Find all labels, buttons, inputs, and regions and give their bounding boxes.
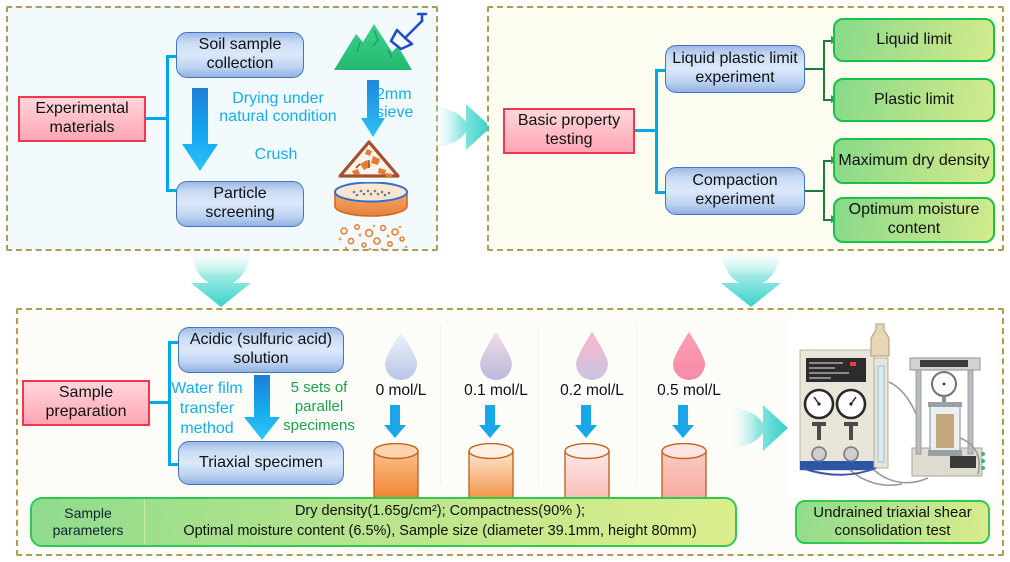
label-water-film-transfer-method: Water film transfer method (168, 379, 246, 439)
node-liquid-limit[interactable]: Liquid limit (833, 18, 995, 62)
node-compaction-experiment[interactable]: Compaction experiment (665, 167, 805, 215)
node-label: Acidic (sulfuric acid) solution (179, 331, 343, 369)
concentration-column: 0.1 mol/L (450, 330, 542, 400)
connector-line (146, 117, 168, 120)
connector-line (166, 56, 169, 190)
soil-pile-icon (336, 138, 406, 180)
connector-line (823, 161, 825, 221)
pour-arrow-icon (574, 405, 598, 439)
node-acidic-solution[interactable]: Acidic (sulfuric acid) solution (178, 327, 344, 373)
node-label: Liquid plastic limit experiment (666, 50, 804, 88)
connector-line (655, 70, 658, 192)
connector-specimens-to-equipment (733, 400, 789, 456)
node-particle-screening[interactable]: Particle screening (176, 181, 304, 227)
concentration-label: 0 mol/L (355, 382, 447, 400)
node-experimental-materials[interactable]: Experimental materials (18, 96, 146, 142)
concentration-label: 0.1 mol/L (450, 382, 542, 400)
connector-basic-to-sample (715, 252, 787, 308)
node-liquid-plastic-limit-experiment[interactable]: Liquid plastic limit experiment (665, 45, 805, 93)
sample-parameters-line-1: Dry density(1.65g/cm²); Compactness(90% … (295, 502, 585, 522)
connector-line (805, 68, 825, 70)
node-label: Sample preparation (24, 384, 148, 422)
concentration-label: 0.2 mol/L (546, 382, 638, 400)
node-label: Particle screening (177, 185, 303, 223)
node-label: Experimental materials (20, 100, 144, 138)
connector-line (805, 190, 825, 192)
droplet-icon (355, 330, 447, 380)
transfer-arrow-icon (243, 375, 281, 441)
connector-line (635, 129, 657, 132)
node-plastic-limit[interactable]: Plastic limit (833, 78, 995, 122)
sample-parameters-values: Dry density(1.65g/cm²); Compactness(90% … (145, 499, 735, 545)
connector-materials-to-basic (436, 98, 492, 156)
specimen-cylinder-icon (465, 443, 517, 505)
caption-label: Undrained triaxial shear consolidation t… (797, 504, 988, 539)
connector-line (823, 41, 825, 101)
flowchart-root: Experimental materials Soil sample colle… (0, 0, 1010, 562)
caption-undrained-triaxial-test: Undrained triaxial shear consolidation t… (795, 500, 990, 544)
concentration-label: 0.5 mol/L (643, 382, 735, 400)
sample-parameters-label: Sample parameters (32, 499, 145, 545)
label-2mm-sieve: 2mm sieve (376, 86, 432, 123)
node-triaxial-specimen[interactable]: Triaxial specimen (178, 441, 344, 485)
node-label: Plastic limit (874, 91, 954, 110)
pour-arrow-icon (671, 405, 695, 439)
node-maximum-dry-density[interactable]: Maximum dry density (833, 138, 995, 184)
droplet-icon (643, 330, 735, 380)
triaxial-apparatus-photo (790, 318, 996, 498)
pour-arrow-icon (478, 405, 502, 439)
label-drying: Drying under natural condition (213, 90, 343, 127)
node-label: Soil sample collection (177, 36, 303, 74)
concentration-column: 0.5 mol/L (643, 330, 735, 400)
node-basic-property-testing[interactable]: Basic property testing (503, 108, 635, 154)
concentration-column: 0 mol/L (355, 330, 447, 400)
sample-parameters-bar: Sample parameters Dry density(1.65g/cm²)… (30, 497, 737, 547)
specimen-cylinder-icon (658, 443, 710, 505)
node-label: Liquid limit (876, 31, 952, 50)
sample-parameters-line-2: Optimal moisture content (6.5%), Sample … (183, 522, 696, 542)
particles-icon (336, 222, 410, 252)
droplet-icon (450, 330, 542, 380)
label-crush: Crush (228, 146, 324, 164)
node-optimum-moisture-content[interactable]: Optimum moisture content (833, 197, 995, 243)
label-parallel-specimens: 5 sets of parallel specimens (278, 379, 360, 435)
specimen-cylinder-icon (561, 443, 613, 505)
node-label: Maximum dry density (838, 152, 989, 171)
connector-line (150, 401, 170, 404)
node-label: Basic property testing (505, 112, 633, 150)
node-label: Optimum moisture content (835, 201, 993, 239)
pour-arrow-icon (383, 405, 407, 439)
node-label: Compaction experiment (666, 172, 804, 210)
sieve-icon (332, 182, 410, 218)
connector-materials-to-sample (185, 252, 257, 308)
droplet-icon (546, 330, 638, 380)
node-soil-sample-collection[interactable]: Soil sample collection (176, 32, 304, 78)
node-label: Triaxial specimen (199, 454, 323, 473)
concentration-column: 0.2 mol/L (546, 330, 638, 400)
specimen-cylinder-icon (370, 443, 422, 505)
node-sample-preparation[interactable]: Sample preparation (22, 380, 150, 426)
shovel-icon (385, 8, 431, 54)
